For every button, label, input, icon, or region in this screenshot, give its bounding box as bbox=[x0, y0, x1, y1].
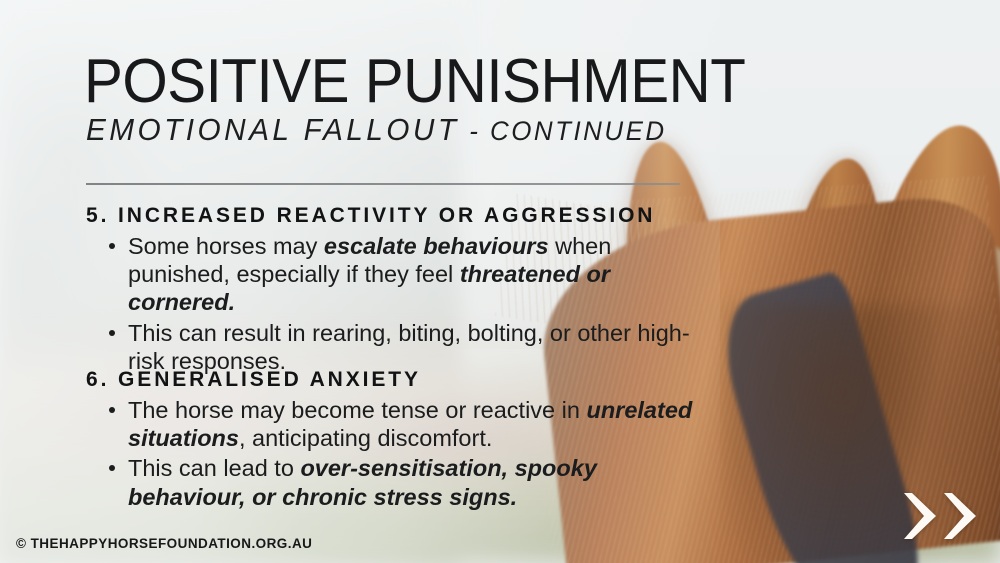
section-heading: 5. INCREASED REACTIVITY OR AGGRESSION bbox=[86, 204, 697, 228]
section-heading: 6. GENERALISED ANXIETY bbox=[86, 368, 697, 392]
list-item: Some horses may escalate behaviours when… bbox=[107, 232, 697, 317]
header-divider bbox=[86, 183, 680, 185]
subtitle-main: EMOTIONAL FALLOUT bbox=[86, 112, 460, 147]
section-increased-reactivity: 5. INCREASED REACTIVITY OR AGGRESSION So… bbox=[86, 204, 697, 377]
section-bullet-list: The horse may become tense or reactive i… bbox=[107, 396, 697, 511]
slide-canvas: POSITIVE PUNISHMENT EMOTIONAL FALLOUT - … bbox=[0, 0, 1000, 563]
section-bullet-list: Some horses may escalate behaviours when… bbox=[107, 232, 697, 375]
slide-content: POSITIVE PUNISHMENT EMOTIONAL FALLOUT - … bbox=[0, 0, 1000, 563]
slide-title: POSITIVE PUNISHMENT bbox=[84, 52, 745, 112]
section-generalised-anxiety: 6. GENERALISED ANXIETY The horse may bec… bbox=[86, 368, 697, 513]
copyright-footer: © THEHAPPYHORSEFOUNDATION.ORG.AU bbox=[16, 536, 312, 551]
list-item: This can lead to over-sensitisation, spo… bbox=[107, 454, 697, 510]
list-item: The horse may become tense or reactive i… bbox=[107, 396, 697, 452]
double-chevron-right-icon bbox=[898, 491, 984, 541]
list-item: This can result in rearing, biting, bolt… bbox=[107, 319, 697, 375]
subtitle-continued: CONTINUED bbox=[490, 116, 667, 146]
slide-subtitle: EMOTIONAL FALLOUT - CONTINUED bbox=[86, 114, 667, 145]
subtitle-separator: - bbox=[460, 116, 491, 146]
